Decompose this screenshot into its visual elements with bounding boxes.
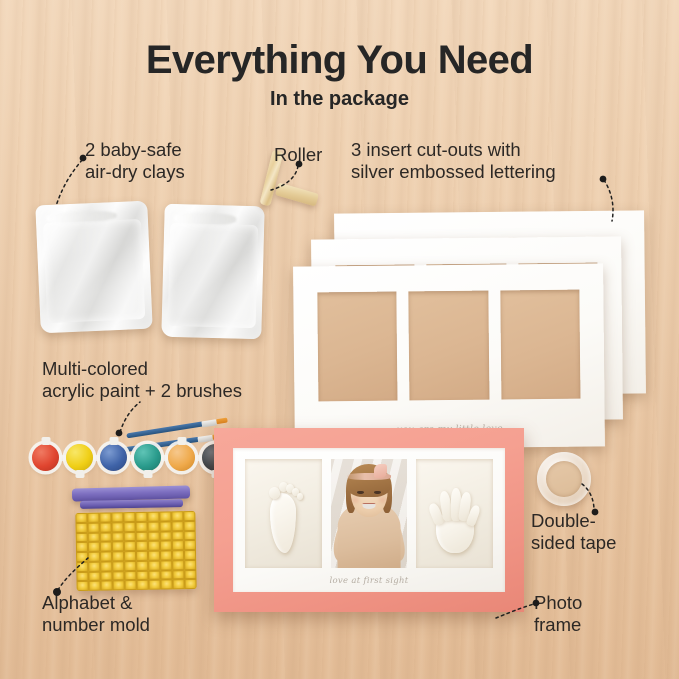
- mold-cell: [148, 541, 160, 551]
- paint-pot-red: [32, 444, 59, 471]
- foot-sole: [270, 493, 296, 553]
- photo-frame-caption: love at first sight: [233, 576, 505, 586]
- paint-pot-tab: [177, 437, 186, 445]
- paint-pot-link: [195, 455, 202, 461]
- brush-ferrule: [201, 419, 217, 427]
- clay-packet-2: [161, 204, 264, 340]
- mold-cell: [112, 571, 124, 581]
- mold-cell: [136, 551, 148, 561]
- paint-pot-cup: [100, 444, 127, 471]
- brush-handle: [126, 421, 204, 438]
- mold-cell: [113, 580, 125, 590]
- mold-cell: [77, 581, 89, 591]
- mold-cell: [123, 512, 135, 522]
- mold-cell: [136, 561, 148, 571]
- mold-cell: [184, 550, 196, 560]
- label-inserts: 3 insert cut-outs with silver embossed l…: [351, 139, 556, 183]
- insert-hole: [317, 292, 397, 402]
- mold-cell: [135, 512, 147, 522]
- mold-cell: [76, 571, 88, 581]
- roller-barrel: [275, 182, 319, 206]
- mold-cell: [172, 531, 184, 541]
- paint-pot-tab: [143, 470, 152, 478]
- mold-cell: [123, 522, 135, 532]
- mold-cell: [124, 561, 136, 571]
- insert-hole: [409, 291, 489, 401]
- mold-cell: [124, 570, 136, 580]
- mold-cell: [136, 541, 148, 551]
- paint-pot-link: [93, 455, 100, 461]
- baby-cheek: [379, 497, 386, 502]
- mold-cell: [171, 521, 183, 531]
- product-infographic: Everything You Need In the package Bundl…: [0, 0, 679, 679]
- mold-cell: [75, 523, 87, 533]
- foot-toe: [297, 493, 303, 500]
- brush-bristles: [216, 418, 228, 425]
- mold-cell: [100, 532, 112, 542]
- footprint-cell: [245, 459, 322, 568]
- mold-cell: [112, 541, 124, 551]
- mold-cell: [76, 542, 88, 552]
- paint-pot-cup: [66, 444, 93, 471]
- insert-hole: [500, 290, 580, 400]
- mold-cell: [172, 540, 184, 550]
- mold-cell: [148, 560, 160, 570]
- mold-cell: [88, 571, 100, 581]
- mold-cell: [159, 511, 171, 521]
- baby-photo: [331, 459, 408, 568]
- mold-cell: [183, 511, 195, 521]
- baby-photo-cell: [331, 459, 408, 568]
- mold-cell: [136, 570, 148, 580]
- mold-cell: [112, 561, 124, 571]
- mold-cell: [184, 530, 196, 540]
- page-title: Everything You Need: [0, 38, 679, 83]
- paint-pot-tab: [75, 470, 84, 478]
- alphabet-number-mold: [75, 511, 196, 591]
- mold-cell: [149, 580, 161, 590]
- mold-cell: [160, 550, 172, 560]
- paint-pot-tab: [109, 437, 118, 445]
- mold-cell: [161, 580, 173, 590]
- mold-cell: [148, 551, 160, 561]
- footprint-clay: [245, 459, 322, 568]
- mold-cell: [183, 521, 195, 531]
- handprint-clay: [416, 459, 493, 568]
- mold-cell: [173, 579, 185, 589]
- mold-cell: [125, 580, 137, 590]
- paint-pot-yellow: [66, 444, 93, 471]
- label-paint: Multi-colored acrylic paint + 2 brushes: [42, 358, 242, 402]
- paint-pot-link: [127, 455, 134, 461]
- mold-cell: [100, 571, 112, 581]
- paint-pot-link: [59, 455, 66, 461]
- mold-cell: [99, 512, 111, 522]
- mold-cell: [148, 531, 160, 541]
- mold-cell: [87, 522, 99, 532]
- baby-cheek: [352, 497, 359, 502]
- mold-cell: [87, 513, 99, 523]
- clay-packet-1: [35, 201, 152, 334]
- purple-roller-tool: [80, 499, 183, 509]
- label-mold: Alphabet & number mold: [42, 592, 150, 636]
- label-frame: Photo frame: [534, 592, 582, 636]
- mold-cell: [147, 521, 159, 531]
- mold-cell: [111, 522, 123, 532]
- mold-cell: [171, 511, 183, 521]
- label-clay: 2 baby-safe air-dry clays: [85, 139, 185, 183]
- mold-cell: [172, 560, 184, 570]
- mold-cell: [160, 560, 172, 570]
- mold-cell: [124, 532, 136, 542]
- mold-cell: [147, 512, 159, 522]
- label-tape: Double- sided tape: [531, 510, 616, 554]
- mold-cell: [75, 513, 87, 523]
- baby-mouth: [362, 503, 375, 510]
- mold-cell: [100, 551, 112, 561]
- mold-cell: [184, 540, 196, 550]
- mold-cell: [112, 551, 124, 561]
- mold-cell: [76, 562, 88, 572]
- mold-cell: [160, 570, 172, 580]
- mold-cell: [101, 581, 113, 591]
- baby-bow: [374, 464, 387, 477]
- mold-cell: [172, 550, 184, 560]
- mold-cell: [185, 579, 197, 589]
- mold-cell: [89, 581, 101, 591]
- mold-cell: [76, 532, 88, 542]
- mold-cell: [112, 532, 124, 542]
- handprint-cast: [427, 481, 483, 555]
- mold-cell: [100, 561, 112, 571]
- mold-cell: [159, 521, 171, 531]
- photo-frame: love at first sight: [214, 428, 524, 612]
- paint-pot-orange: [168, 444, 195, 471]
- mold-cell: [160, 531, 172, 541]
- photo-frame-mat: love at first sight: [233, 448, 505, 592]
- mold-cell: [88, 552, 100, 562]
- paint-pot-teal: [134, 444, 161, 471]
- mold-cell: [99, 522, 111, 532]
- mold-cell: [76, 552, 88, 562]
- mold-cell: [124, 541, 136, 551]
- label-roller: Roller: [274, 144, 322, 166]
- mold-cell: [148, 570, 160, 580]
- mold-cell: [124, 551, 136, 561]
- paint-pot-blue: [100, 444, 127, 471]
- handprint-cell: [416, 459, 493, 568]
- paint-pot-link: [161, 455, 168, 461]
- mold-cell: [184, 569, 196, 579]
- paint-pot-cup: [32, 444, 59, 471]
- page-subtitle: In the package: [0, 88, 679, 111]
- mold-cell: [172, 570, 184, 580]
- mold-cell: [137, 580, 149, 590]
- footprint-cast: [264, 479, 302, 553]
- mold-cell: [135, 522, 147, 532]
- paint-pot-tab: [41, 437, 50, 445]
- paint-pot-cup: [134, 444, 161, 471]
- mold-cell: [111, 512, 123, 522]
- paint-pot-strip: [32, 444, 229, 471]
- paint-pot-cup: [168, 444, 195, 471]
- mold-cell: [160, 541, 172, 551]
- insert-cutout-1: you are my little love: [293, 263, 605, 449]
- mold-cell: [88, 561, 100, 571]
- brush-ferrule: [197, 434, 213, 442]
- mold-cell: [136, 531, 148, 541]
- mold-cell: [100, 542, 112, 552]
- mold-cell: [88, 542, 100, 552]
- double-sided-tape-roll: [537, 452, 591, 506]
- mold-cell: [184, 560, 196, 570]
- mold-cell: [88, 532, 100, 542]
